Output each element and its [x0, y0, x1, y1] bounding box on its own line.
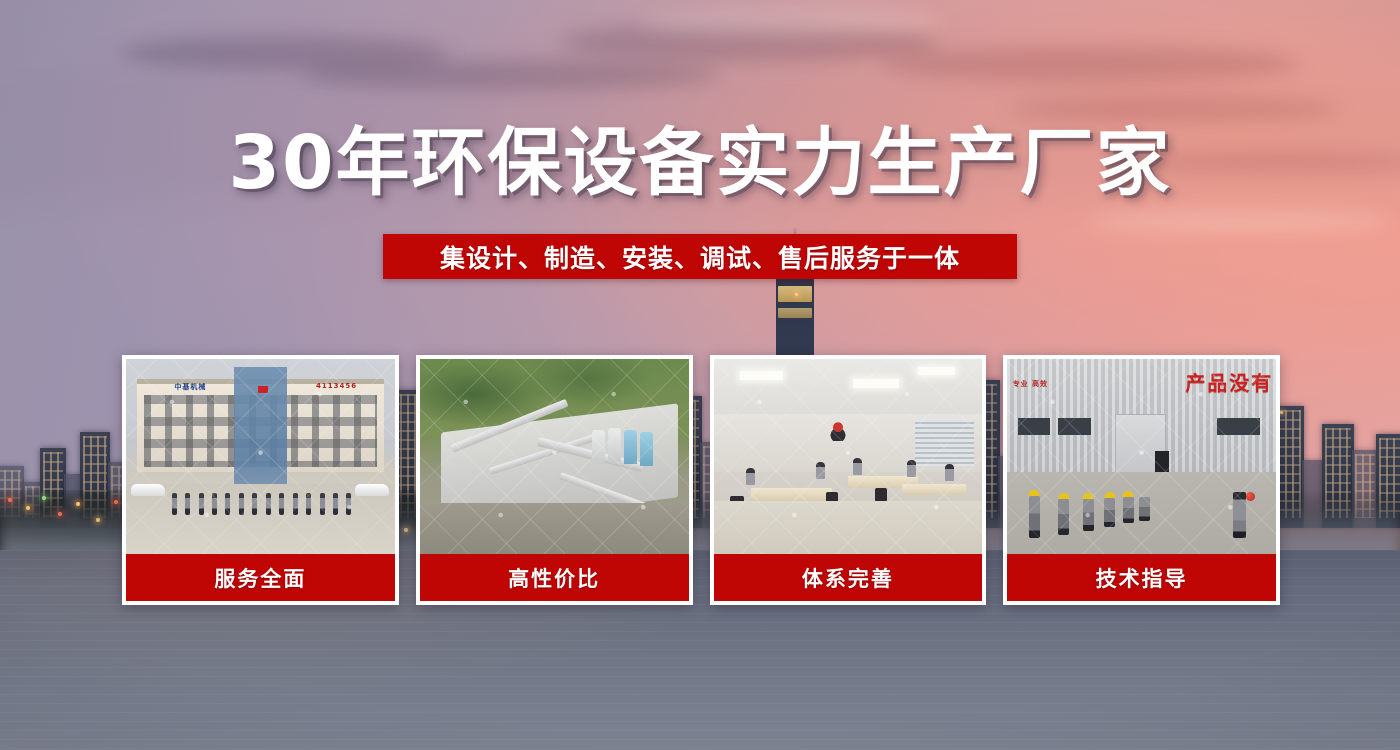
- flag-icon: [258, 386, 268, 393]
- card-caption: 高性价比: [420, 554, 689, 601]
- card-caption: 体系完善: [714, 554, 983, 601]
- cloud-shape: [1010, 96, 1340, 122]
- card-caption: 服务全面: [126, 554, 395, 601]
- card-photo-factory-workers: 产品没有 专业 高效: [1007, 359, 1276, 554]
- factory-wall-slogan: 产品没有: [1185, 367, 1273, 396]
- building-phone-number: 4113456: [316, 382, 357, 390]
- feature-card-row: 中基机械 4113456: [122, 355, 1280, 605]
- card-photo-aerial-plant: [420, 359, 689, 554]
- building-signage: 中基机械: [174, 382, 206, 392]
- subtitle-banner: 集设计、制造、安装、调试、售后服务于一体: [383, 234, 1017, 279]
- factory-wall-slogan-small: 专业 高效: [1013, 379, 1048, 389]
- cloud-shape: [300, 60, 720, 90]
- card-caption: 技术指导: [1007, 554, 1276, 601]
- red-helmet-icon: [1246, 492, 1255, 501]
- feature-card[interactable]: 产品没有 专业 高效 技术指导: [1003, 355, 1280, 605]
- card-photo-office-interior: [714, 359, 983, 554]
- card-photo-office-building: 中基机械 4113456: [126, 359, 395, 554]
- feature-card[interactable]: 体系完善: [710, 355, 987, 605]
- cloud-shape: [640, 10, 940, 36]
- page-title: 30年环保设备实力生产厂家: [0, 126, 1400, 200]
- feature-card[interactable]: 高性价比: [416, 355, 693, 605]
- cloud-shape: [880, 46, 1300, 82]
- hero-banner: 30年环保设备实力生产厂家 集设计、制造、安装、调试、售后服务于一体 中基机械 …: [0, 0, 1400, 750]
- subtitle-text: 集设计、制造、安装、调试、售后服务于一体: [440, 239, 960, 275]
- feature-card[interactable]: 中基机械 4113456: [122, 355, 399, 605]
- wall-logo-icon: [821, 418, 855, 441]
